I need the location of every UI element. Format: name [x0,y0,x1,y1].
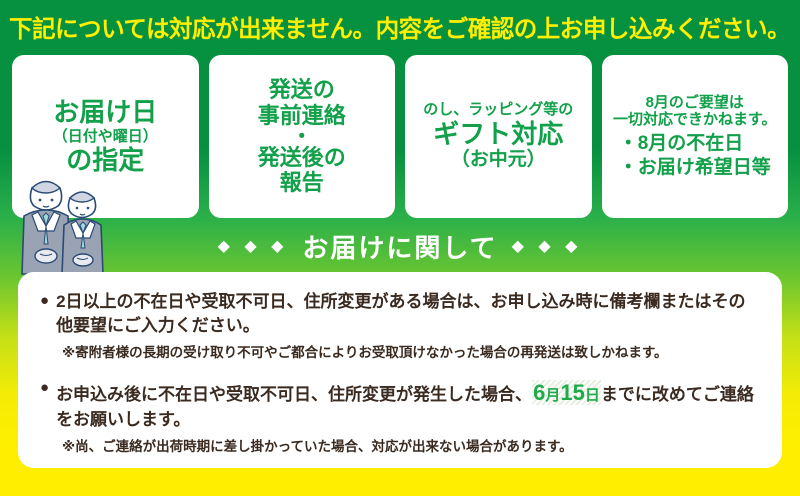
section-title: ◆ ◆ ◆ お届けに関して ◆ ◆ ◆ [0,222,800,270]
delivery-notes-panel: ● 2日以上の不在日や受取不可日、住所変更がある場合は、お申し込み時に備考欄また… [18,272,782,468]
restriction-cards: お届け日 （日付や曜日） の指定 発送の 事前連絡 ・ 発送後の 報告 のし、ラ… [0,55,800,218]
card2-line4: 発送後の [258,145,346,171]
card2-line2: 事前連絡 [258,103,346,129]
note-item-2-subnote: ※尚、ご連絡が出荷時期に差し掛かっていた場合、対応が出来ない場合があります。 [62,437,760,457]
card4-line1: 8月のご要望は [646,94,744,112]
deadline-highlight: 6月15日 [532,380,601,405]
bullet-marker-2: ● [40,377,49,399]
card2-line5: 報告 [280,170,324,196]
card3-line3: （お中元） [451,149,546,171]
header-title: 下記については対応が出来ません。内容をご確認の上お申し込みください。 [9,9,790,44]
note-item-1-subnote: ※寄附者様の長期の受け取り不可やご都合によりお受取頂けなかった場合の再発送は致し… [62,343,760,363]
promo-graphic: 下記については対応が出来ません。内容をご確認の上お申し込みください。 お届け日 … [0,0,800,496]
deadline-month: 6 [533,380,545,405]
card4-bullet-2: ・お届け希望日等 [619,156,771,180]
note-item-1-text: 2日以上の不在日や受取不可日、住所変更がある場合は、お申し込み時に備考欄またはそ… [56,290,760,338]
note-item-1: ● 2日以上の不在日や受取不可日、住所変更がある場合は、お申し込み時に備考欄また… [40,290,760,338]
card2-line3: ・ [292,129,312,145]
card3-line1: のし、ラッピング等の [423,101,573,119]
note-item-2-prefix: お申込み後に不在日や受取不可日、住所変更が発生した場合、 [56,385,532,404]
note-item-2-text: お申込み後に不在日や受取不可日、住所変更が発生した場合、6月15日までに改めてご… [56,377,760,432]
deadline-month-unit: 月 [545,387,560,404]
diamond-group-left: ◆ ◆ ◆ [218,236,289,256]
note-item-2: ● お申込み後に不在日や受取不可日、住所変更が発生した場合、6月15日までに改め… [40,377,760,432]
deadline-day: 15 [560,380,584,405]
deadline-day-unit: 日 [585,387,600,404]
card2-line1: 発送の [269,77,335,103]
card-august-requests: 8月のご要望は 一切対応できかねます。 ・8月の不在日 ・お届け希望日等 [602,55,789,218]
card3-line2: ギフト対応 [433,119,563,150]
header-bar: 下記については対応が出来ません。内容をご確認の上お申し込みください。 [0,0,800,52]
diamond-group-right: ◆ ◆ ◆ [512,236,583,256]
card4-bullet-1: ・8月の不在日 [619,132,771,156]
section-title-label: お届けに関して [302,228,497,265]
card1-line2: （日付や曜日） [53,128,158,146]
card-shipping-notification: 発送の 事前連絡 ・ 発送後の 報告 [209,55,396,218]
card-gift-wrapping: のし、ラッピング等の ギフト対応 （お中元） [405,55,592,218]
card1-line1: お届け日 [53,97,157,128]
bullet-marker-1: ● [40,290,49,312]
card4-line2: 一切対応できかねます。 [613,111,777,129]
